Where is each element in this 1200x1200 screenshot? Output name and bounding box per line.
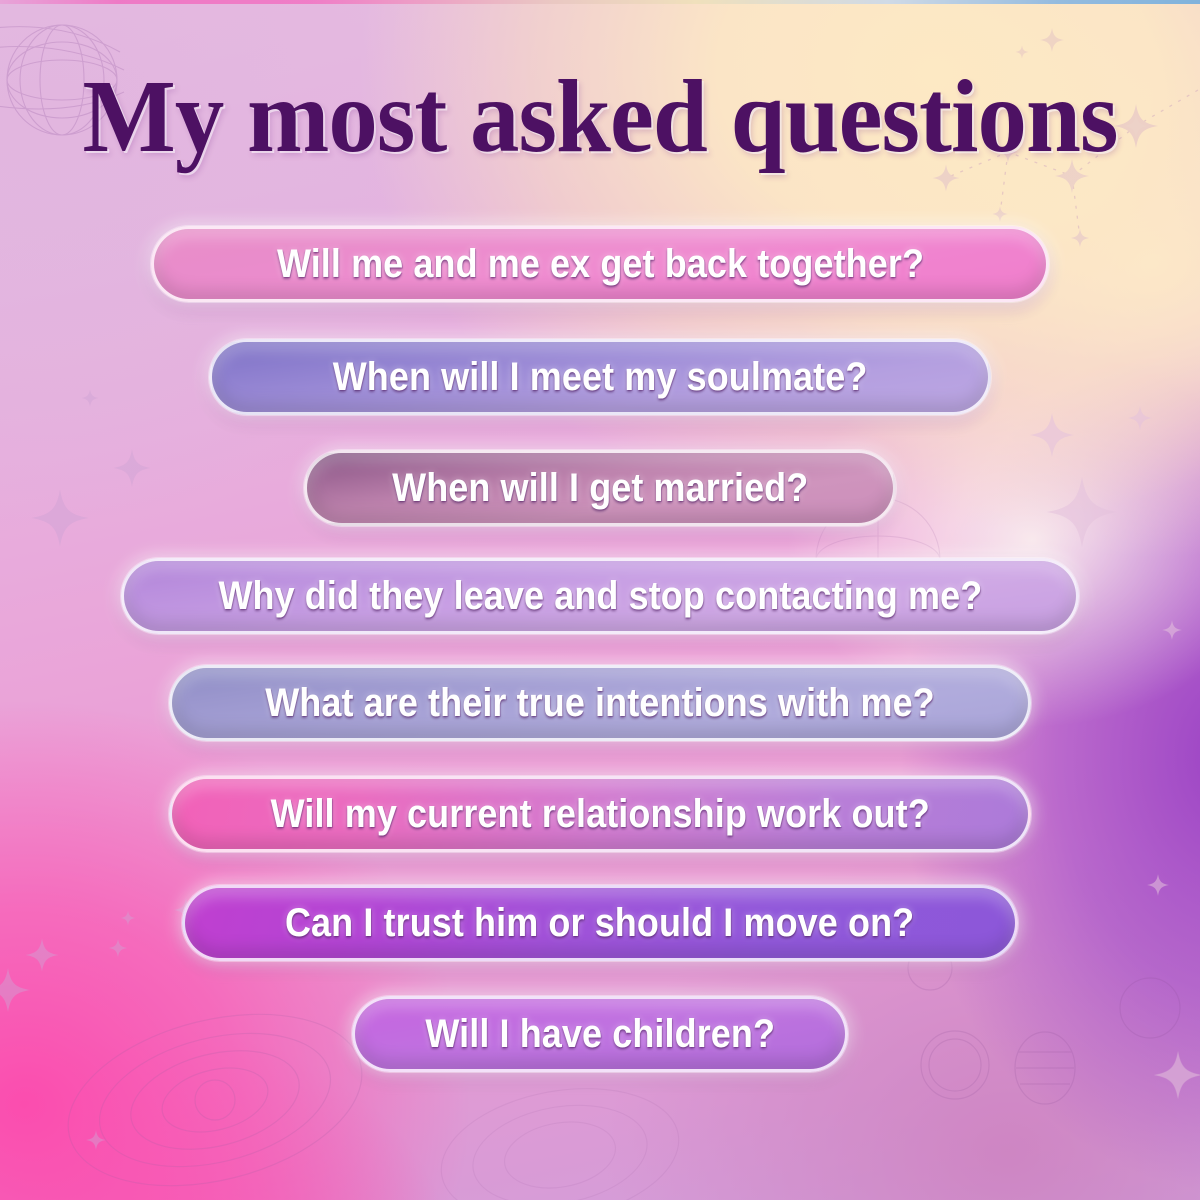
question-pill[interactable]: When will I get married? bbox=[304, 450, 896, 526]
question-label: When will I meet my soulmate? bbox=[333, 357, 868, 397]
question-label: Will I have children? bbox=[425, 1014, 775, 1054]
question-pill[interactable]: What are their true intentions with me? bbox=[169, 665, 1031, 741]
question-label: Will my current relationship work out? bbox=[270, 794, 929, 834]
question-label: Can I trust him or should I move on? bbox=[285, 903, 914, 943]
question-label: Why did they leave and stop contacting m… bbox=[218, 576, 982, 616]
question-label: Will me and me ex get back together? bbox=[276, 244, 923, 284]
poster-canvas: My most asked questions Will me and me e… bbox=[0, 0, 1200, 1200]
question-pill[interactable]: Will I have children? bbox=[352, 996, 848, 1072]
question-label: What are their true intentions with me? bbox=[265, 683, 935, 723]
question-pill[interactable]: Why did they leave and stop contacting m… bbox=[121, 558, 1079, 634]
question-pill[interactable]: Will me and me ex get back together? bbox=[151, 226, 1049, 302]
question-label: When will I get married? bbox=[392, 468, 808, 508]
question-list: Will me and me ex get back together? Whe… bbox=[0, 0, 1200, 1200]
question-pill[interactable]: Can I trust him or should I move on? bbox=[182, 885, 1018, 961]
question-pill[interactable]: When will I meet my soulmate? bbox=[209, 339, 991, 415]
question-pill[interactable]: Will my current relationship work out? bbox=[169, 776, 1031, 852]
